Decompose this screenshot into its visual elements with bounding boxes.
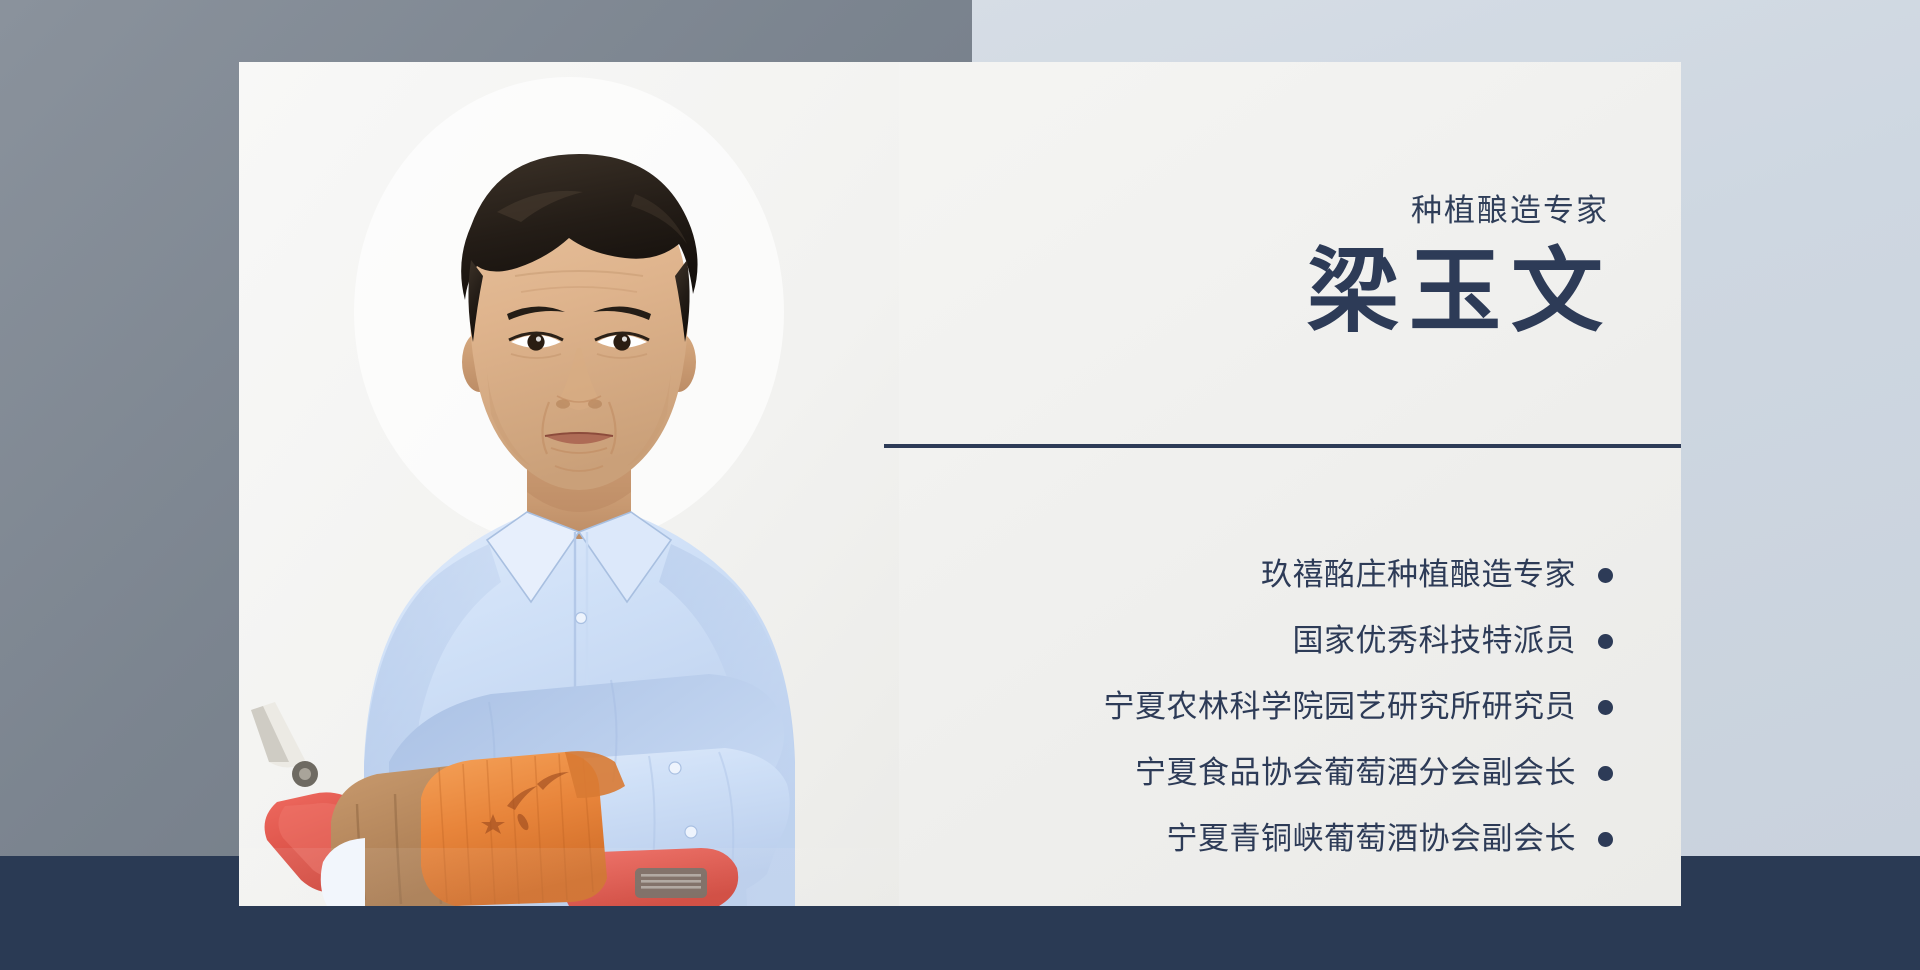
credential-label: 宁夏食品协会葡萄酒分会副会长	[1135, 754, 1576, 792]
bullet-dot-icon	[1598, 634, 1613, 649]
credential-item: 宁夏食品协会葡萄酒分会副会长	[793, 740, 1613, 806]
credentials-list: 玖禧酩庄种植酿造专家国家优秀科技特派员宁夏农林科学院园艺研究所研究员宁夏食品协会…	[793, 542, 1613, 872]
profile-banner: 种植酿造专家 梁玉文 玖禧酩庄种植酿造专家国家优秀科技特派员宁夏农林科学院园艺研…	[0, 0, 1920, 970]
profile-subtitle: 种植酿造专家	[1411, 192, 1609, 230]
bullet-dot-icon	[1598, 766, 1613, 781]
credential-label: 宁夏青铜峡葡萄酒协会副会长	[1167, 820, 1577, 858]
credential-label: 宁夏农林科学院园艺研究所研究员	[1104, 688, 1577, 726]
divider-line	[884, 444, 1681, 448]
credential-item: 国家优秀科技特派员	[793, 608, 1613, 674]
bullet-dot-icon	[1598, 700, 1613, 715]
profile-card: 种植酿造专家 梁玉文 玖禧酩庄种植酿造专家国家优秀科技特派员宁夏农林科学院园艺研…	[239, 62, 1681, 906]
credential-item: 玖禧酩庄种植酿造专家	[793, 542, 1613, 608]
profile-name: 梁玉文	[1297, 240, 1613, 344]
credential-item: 宁夏青铜峡葡萄酒协会副会长	[793, 806, 1613, 872]
credential-item: 宁夏农林科学院园艺研究所研究员	[793, 674, 1613, 740]
bullet-dot-icon	[1598, 832, 1613, 847]
bullet-dot-icon	[1598, 568, 1613, 583]
credential-label: 国家优秀科技特派员	[1293, 622, 1577, 660]
credential-label: 玖禧酩庄种植酿造专家	[1261, 556, 1576, 594]
